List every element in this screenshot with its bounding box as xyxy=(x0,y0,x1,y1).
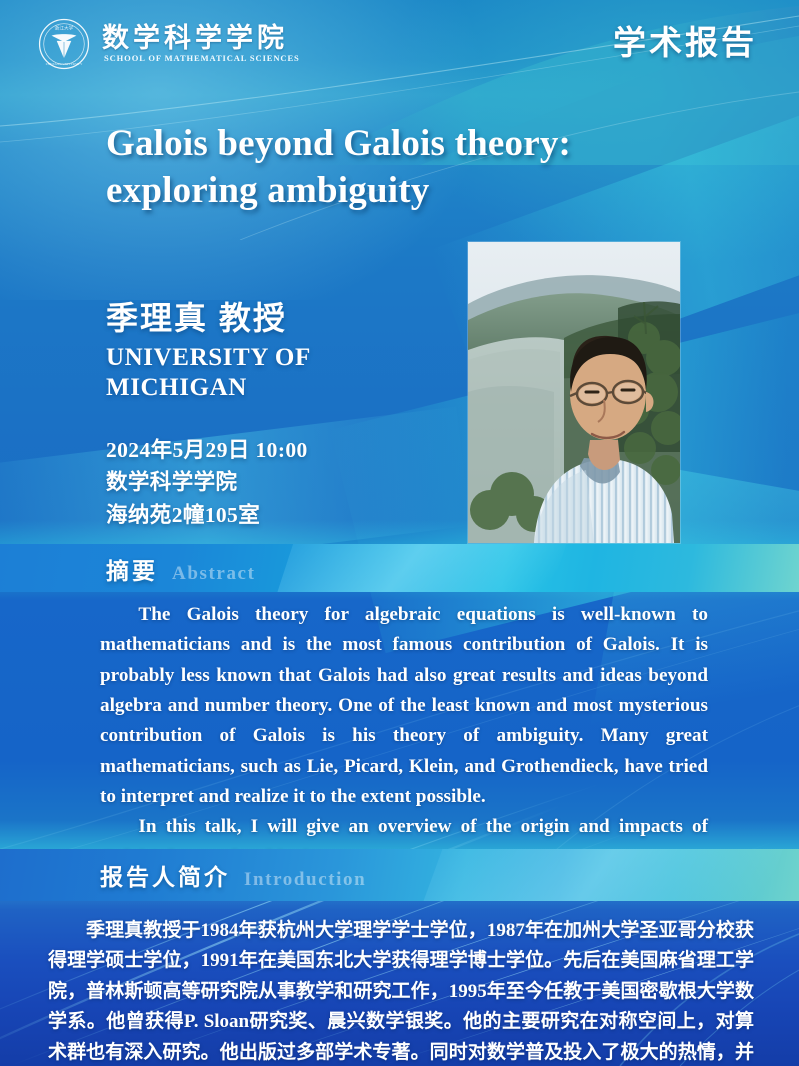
abstract-text: The Galois theory for algebraic equation… xyxy=(100,600,708,873)
introduction-section-heading: 报告人简介 Introduction xyxy=(100,858,366,892)
talk-logistics: 2024年5月29日 10:00 数学科学学院 海纳苑2幢105室 xyxy=(106,434,456,532)
svg-text:浙江大学: 浙江大学 xyxy=(55,24,74,31)
introduction-heading-en: Introduction xyxy=(244,869,366,891)
poster-header: 浙江大学 ZHEJIANG UNIVERSITY 数学科学学院 SCHOOL O… xyxy=(0,0,799,95)
svg-text:ZHEJIANG UNIVERSITY: ZHEJIANG UNIVERSITY xyxy=(46,62,83,66)
abstract-paragraph: The Galois theory for algebraic equation… xyxy=(100,600,708,812)
abstract-section-heading: 摘要 Abstract xyxy=(106,552,256,586)
school-name-en: SCHOOL OF MATHEMATICAL SCIENCES xyxy=(102,54,300,63)
talk-datetime: 2024年5月29日 10:00 xyxy=(106,434,456,467)
abstract-heading-en: Abstract xyxy=(172,563,256,585)
speaker-block: 季理真 教授 UNIVERSITY OF MICHIGAN 2024年5月29日… xyxy=(106,300,456,532)
speaker-affiliation: UNIVERSITY OF MICHIGAN xyxy=(106,343,456,403)
school-name-cn: 数学科学学院 xyxy=(102,25,300,52)
brand-lockup: 浙江大学 ZHEJIANG UNIVERSITY 数学科学学院 SCHOOL O… xyxy=(38,18,300,70)
introduction-text: 季理真教授于1984年获杭州大学理学学士学位，1987年在加州大学圣亚哥分校获得… xyxy=(48,916,754,1066)
speaker-photo xyxy=(468,242,680,543)
university-seal-icon: 浙江大学 ZHEJIANG UNIVERSITY xyxy=(38,18,90,70)
abstract-heading-cn: 摘要 xyxy=(106,552,158,586)
speaker-name: 季理真 教授 xyxy=(106,300,456,337)
talk-title: Galois beyond Galois theory: exploring a… xyxy=(106,120,726,215)
introduction-heading-cn: 报告人简介 xyxy=(100,858,230,892)
speaker-photo-image xyxy=(468,242,680,543)
talk-host: 数学科学学院 xyxy=(106,466,456,499)
seminar-poster: 浙江大学 ZHEJIANG UNIVERSITY 数学科学学院 SCHOOL O… xyxy=(0,0,799,1066)
poster-category-badge: 学术报告 xyxy=(613,16,757,64)
talk-room: 海纳苑2幢105室 xyxy=(106,499,456,532)
